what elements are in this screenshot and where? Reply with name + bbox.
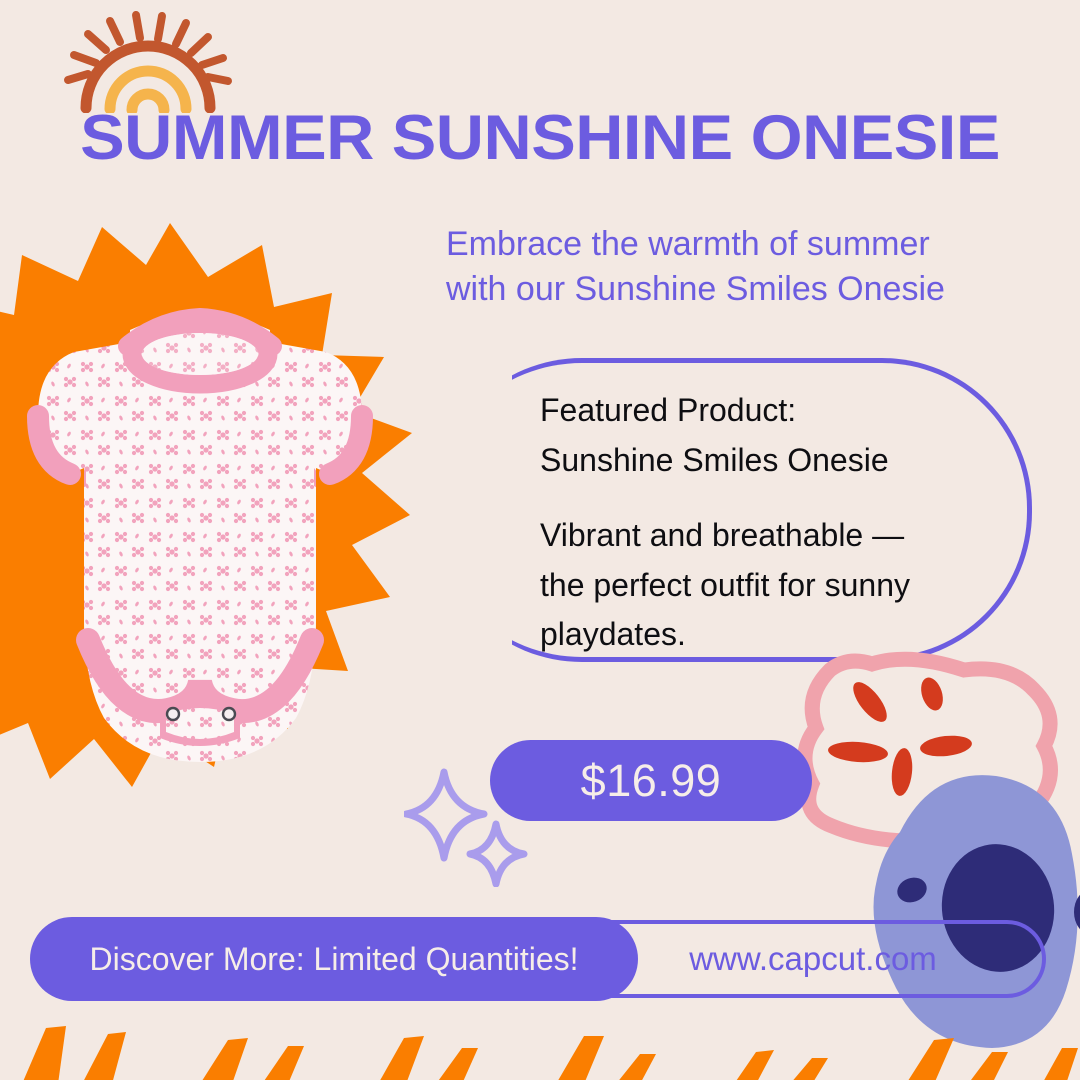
burst-marks-icon — [827, 675, 973, 797]
page-title: SUMMER SUNSHINE ONESIE — [0, 102, 1080, 174]
price-badge[interactable]: $16.99 — [490, 740, 812, 821]
snap-button-left — [167, 708, 179, 720]
detail-line-2: the perfect outfit for sunny — [540, 561, 1010, 611]
website-label: www.capcut.com — [689, 940, 937, 978]
featured-product-text: Featured Product: Sunshine Smiles Onesie… — [540, 386, 1010, 660]
featured-product-name: Sunshine Smiles Onesie — [540, 436, 1010, 486]
orange-brush-strokes-icon — [0, 1008, 1080, 1080]
card-left-mask — [432, 358, 512, 662]
featured-label: Featured Product: — [540, 386, 1010, 436]
text-gap — [540, 485, 1010, 511]
subtitle-line-1: Embrace the warmth of summer — [446, 222, 1006, 267]
website-link[interactable]: www.capcut.com — [648, 917, 978, 1001]
sun-rainbow-icon — [58, 8, 238, 113]
subtitle: Embrace the warmth of summer with our Su… — [446, 222, 1006, 312]
discover-more-label: Discover More: Limited Quantities! — [89, 941, 578, 978]
price-value: $16.99 — [581, 755, 722, 807]
product-image-onesie — [10, 290, 390, 820]
discover-more-button[interactable]: Discover More: Limited Quantities! — [30, 917, 638, 1001]
detail-line-1: Vibrant and breathable — — [540, 511, 1010, 561]
poster-canvas: SUMMER SUNSHINE ONESIE Embrace the warmt… — [0, 0, 1080, 1080]
subtitle-line-2: with our Sunshine Smiles Onesie — [446, 267, 1006, 312]
snap-button-right — [223, 708, 235, 720]
